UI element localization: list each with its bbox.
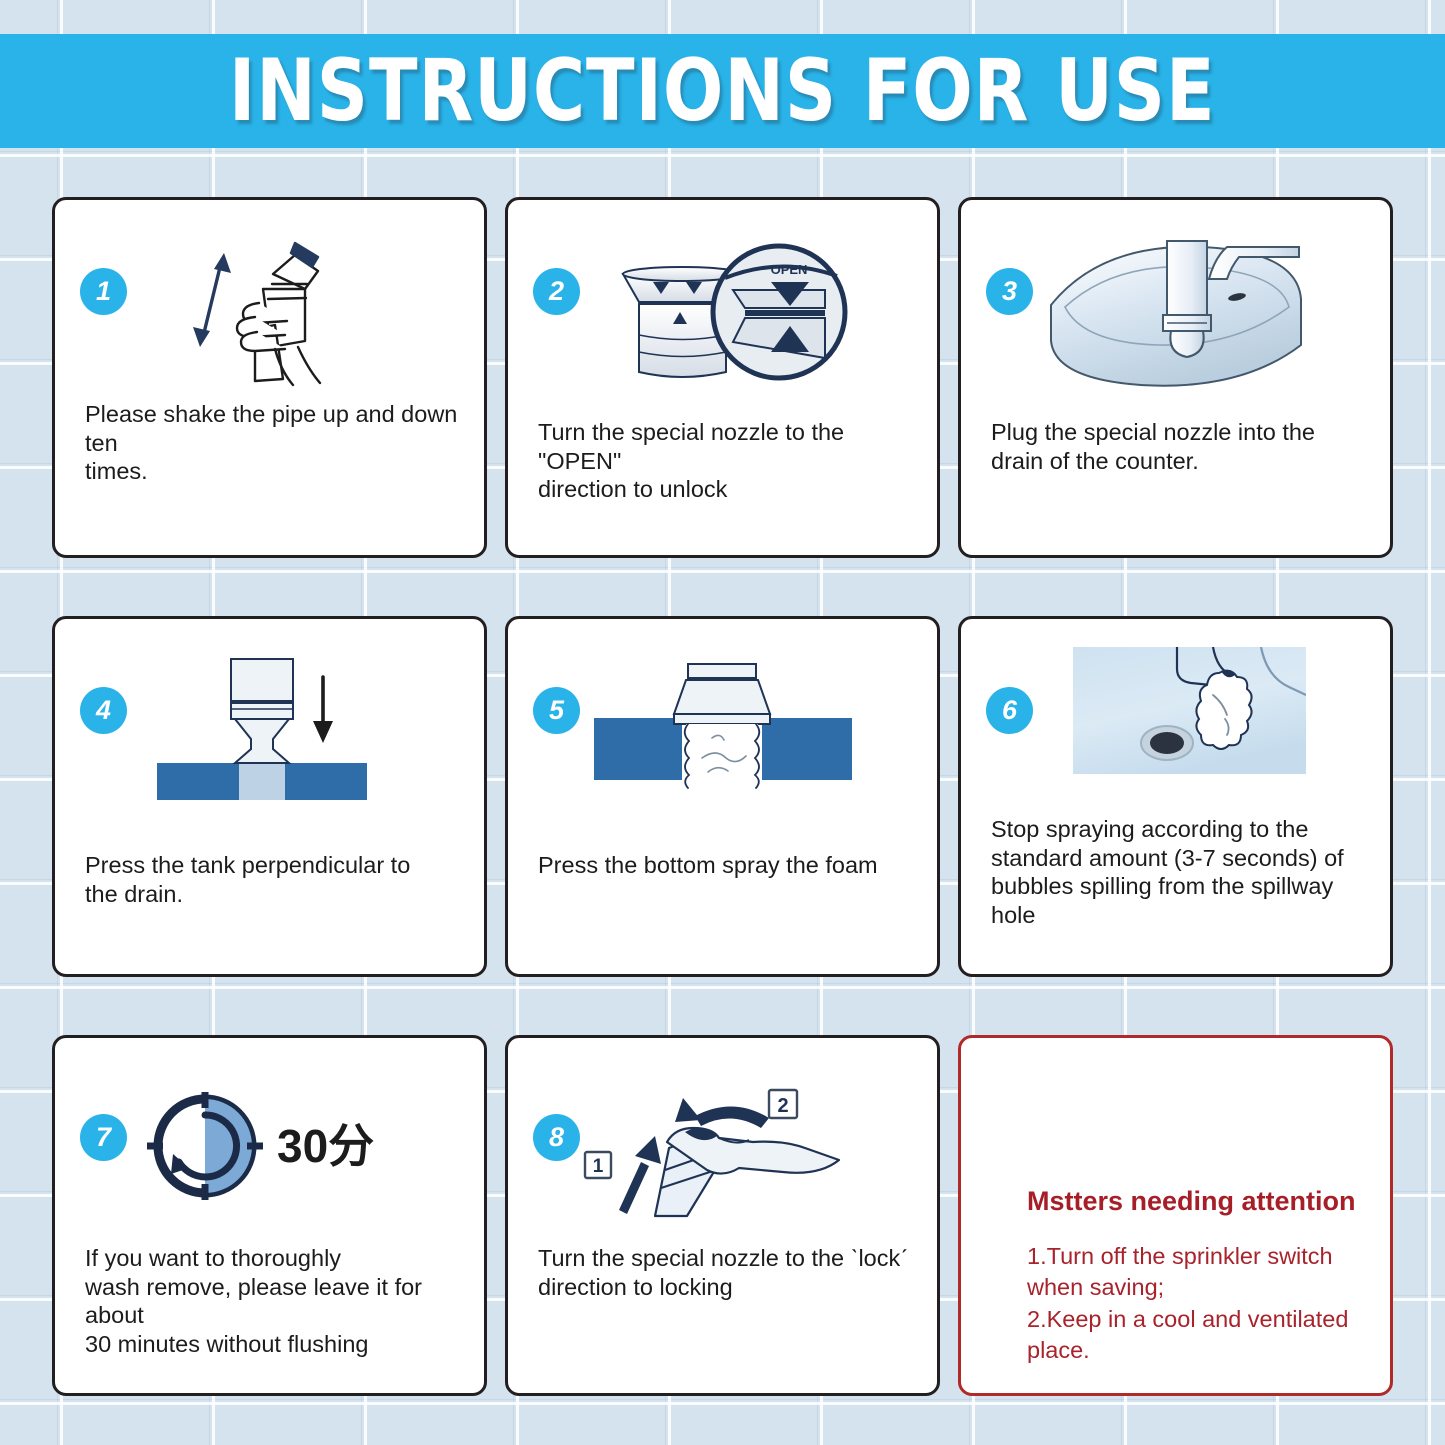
nozzle-in-drain-icon [961,228,1390,406]
header-banner: INSTRUCTIONS FOR USE [0,34,1445,148]
step-caption: Stop spraying according to the standard … [991,815,1372,930]
step-panel-7: 7 [52,1035,487,1396]
step-panel-1: 1 [52,197,487,558]
step-panel-4: 4 Press the tank p [52,616,487,977]
step-panel-5: 5 [505,616,940,977]
step-caption: If you want to thoroughly wash remove, p… [85,1244,466,1359]
step-panel-3: 3 [958,197,1393,558]
step-caption: Plug the special nozzle into the drain o… [991,418,1372,475]
press-tank-down-icon [55,647,484,825]
step-caption: Press the bottom spray the foam [538,851,919,880]
dial-open-label: OPEN [770,262,807,277]
step-panel-2: 2 [505,197,940,558]
hand-shaking-bottle-icon [55,228,484,406]
nozzle-open-dial-icon: OPEN [508,228,937,406]
sink-spillway-foam-icon [961,643,1390,778]
attention-title: Mstters needing attention [1027,1186,1356,1217]
arrow-label-2: 2 [777,1095,788,1117]
attention-body: 1.Turn off the sprinkler switch when sav… [1027,1241,1372,1366]
step-panel-8: 8 1 [505,1035,940,1396]
steps-grid: 1 [52,197,1393,1396]
page-title: INSTRUCTIONS FOR USE [229,48,1216,134]
step-caption: Turn the special nozzle to the ˋlockˊ di… [538,1244,919,1301]
timer-label: 30分 [277,1120,374,1172]
arrow-label-1: 1 [592,1156,603,1177]
hand-lock-nozzle-icon: 1 2 [508,1086,937,1221]
step-caption: Press the tank perpendicular to the drai… [85,851,466,908]
timer-30-minutes-icon: 30分 [55,1086,484,1206]
step-panel-6: 6 [958,616,1393,977]
foam-spray-drain-icon [508,647,937,825]
step-caption: Please shake the pipe up and down ten ti… [85,400,466,486]
attention-panel: Mstters needing attention 1.Turn off the… [958,1035,1393,1396]
step-caption: Turn the special nozzle to the "OPEN" di… [538,418,919,504]
